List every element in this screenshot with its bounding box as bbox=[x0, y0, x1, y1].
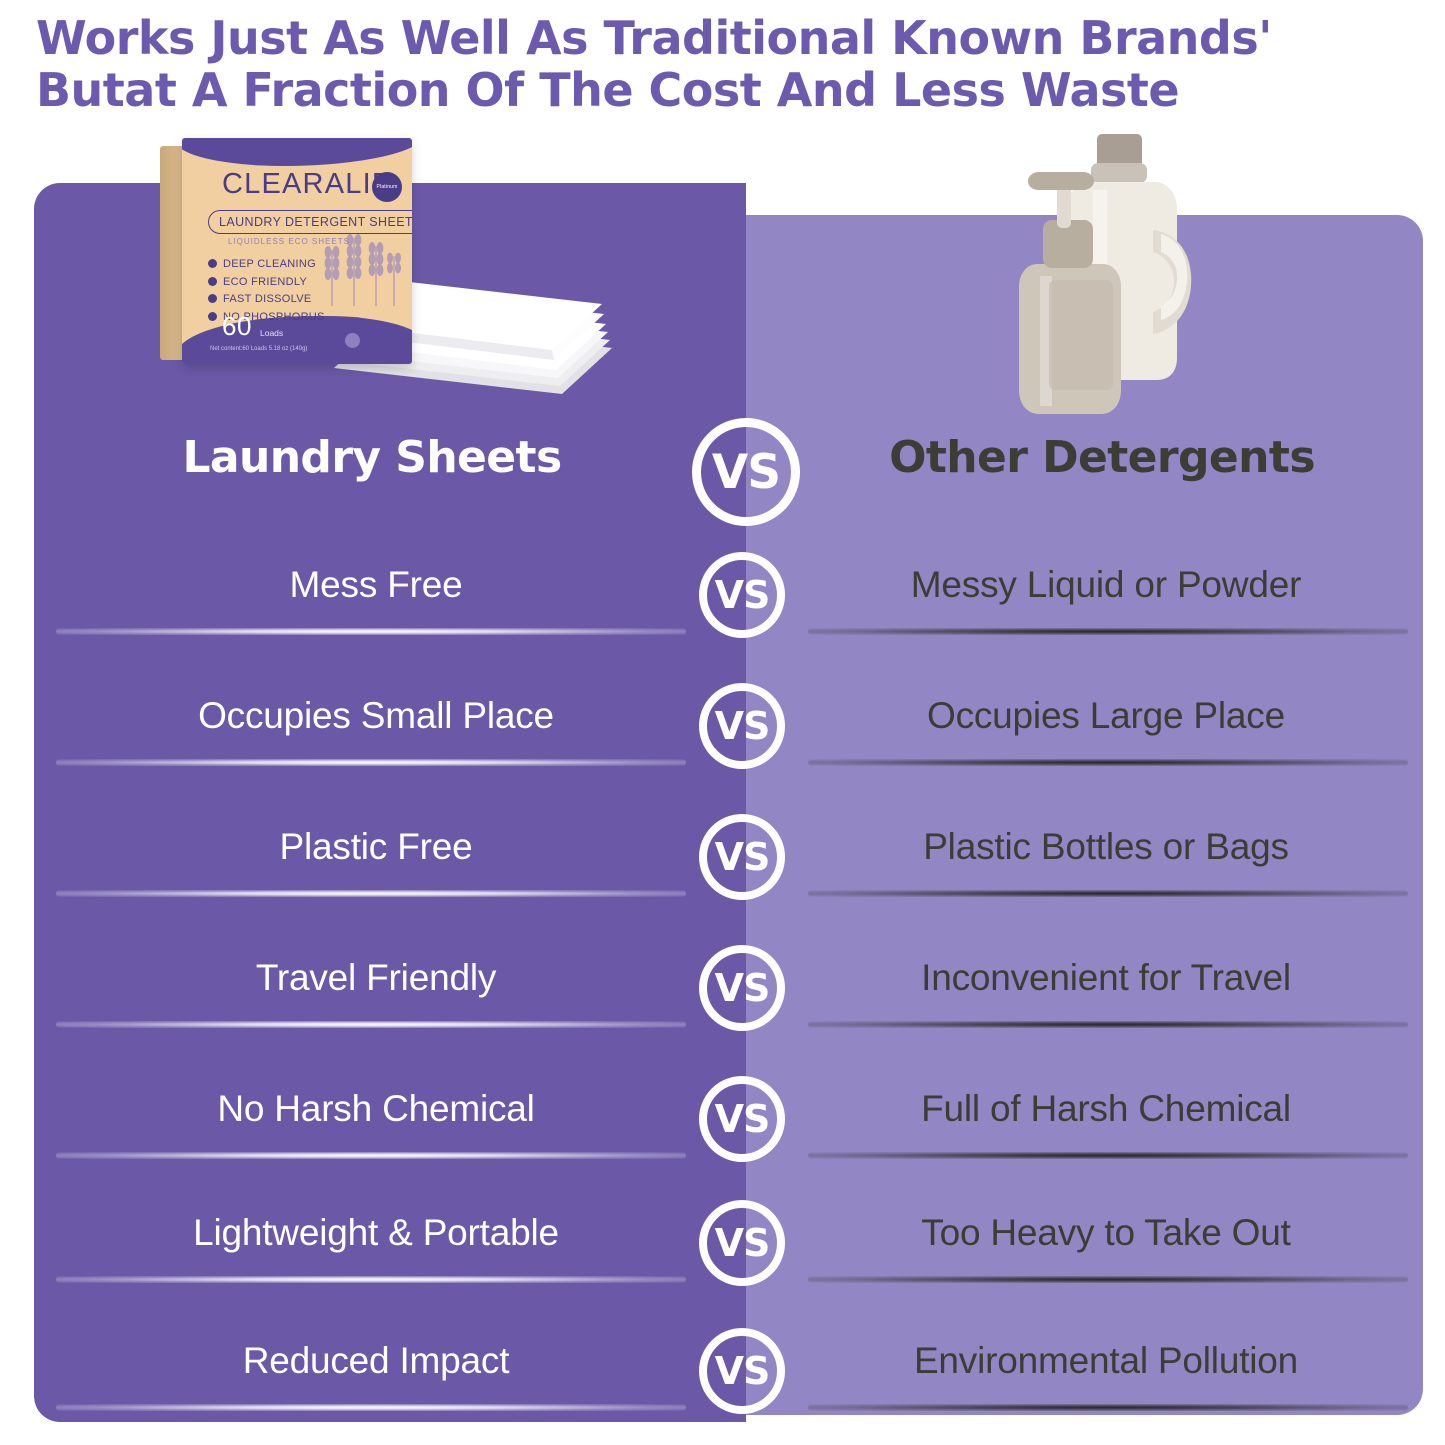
row-right-label: Environmental Pollution bbox=[800, 1318, 1412, 1404]
brand-name: CLEARALIF bbox=[222, 168, 391, 201]
row-right-divider bbox=[808, 1021, 1408, 1028]
row-right-label: Plastic Bottles or Bags bbox=[800, 804, 1412, 890]
vs-badge-row-7: VS bbox=[699, 1328, 785, 1414]
box-front-face: CLEARALIF Platinum LAUNDRY DETERGENT SHE… bbox=[182, 138, 412, 364]
box-wave-top bbox=[182, 138, 412, 166]
detergent-bottles-image bbox=[985, 130, 1220, 420]
headline-line-2: Butat A Fraction Of The Cost And Less Wa… bbox=[36, 64, 1416, 116]
row-left-label: Occupies Small Place bbox=[56, 673, 696, 759]
row-right-label: Messy Liquid or Powder bbox=[800, 542, 1412, 628]
eco-mini-icon bbox=[345, 333, 360, 348]
vs-badge-header: VS bbox=[692, 418, 800, 526]
vs-badge-row-3: VS bbox=[699, 814, 785, 900]
row-left-divider bbox=[56, 1021, 686, 1028]
row-right-label: Inconvenient for Travel bbox=[800, 935, 1412, 1021]
vs-badge-row-6: VS bbox=[699, 1200, 785, 1286]
row-left-divider bbox=[56, 759, 686, 766]
row-left-label: No Harsh Chemical bbox=[56, 1066, 696, 1152]
headline-line-1: Works Just As Well As Traditional Known … bbox=[36, 11, 1272, 65]
product-tagline: LIQUIDLESS ECO SHEETS bbox=[228, 237, 350, 246]
row-left-divider bbox=[56, 628, 686, 635]
row-left-divider bbox=[56, 1404, 686, 1411]
row-left-divider bbox=[56, 1152, 686, 1159]
row-left-divider bbox=[56, 890, 686, 897]
box-feature-item: DEEP CLEANING bbox=[208, 256, 325, 274]
product-type-label: LAUNDRY DETERGENT SHEETS bbox=[208, 210, 412, 234]
row-right-divider bbox=[808, 890, 1408, 897]
row-right-divider bbox=[808, 759, 1408, 766]
product-box-image: CLEARALIF Platinum LAUNDRY DETERGENT SHE… bbox=[160, 138, 412, 370]
platinum-badge: Platinum bbox=[372, 172, 402, 202]
row-left-label: Mess Free bbox=[56, 542, 696, 628]
left-column-header: Laundry Sheets bbox=[34, 432, 710, 483]
row-left-label: Travel Friendly bbox=[56, 935, 696, 1021]
vs-badge-row-5: VS bbox=[699, 1076, 785, 1162]
infographic-canvas: Works Just As Well As Traditional Known … bbox=[0, 0, 1445, 1445]
row-right-divider bbox=[808, 1152, 1408, 1159]
row-right-divider bbox=[808, 628, 1408, 635]
loads-count: 60 bbox=[222, 311, 252, 342]
row-right-divider bbox=[808, 1404, 1408, 1411]
vs-badge-row-4: VS bbox=[699, 945, 785, 1031]
row-left-label: Plastic Free bbox=[56, 804, 696, 890]
page-title: Works Just As Well As Traditional Known … bbox=[36, 12, 1416, 116]
right-column-header: Other Detergents bbox=[792, 432, 1412, 483]
row-left-label: Lightweight & Portable bbox=[56, 1190, 696, 1276]
box-feature-item: FAST DISSOLVE bbox=[208, 291, 325, 309]
loads-label: Loads bbox=[260, 328, 283, 338]
row-right-label: Too Heavy to Take Out bbox=[800, 1190, 1412, 1276]
row-right-divider bbox=[808, 1276, 1408, 1283]
box-feature-item: ECO FRIENDLY bbox=[208, 274, 325, 292]
vs-badge-row-1: VS bbox=[699, 552, 785, 638]
row-right-label: Full of Harsh Chemical bbox=[800, 1066, 1412, 1152]
row-left-divider bbox=[56, 1276, 686, 1283]
row-right-label: Occupies Large Place bbox=[800, 673, 1412, 759]
row-left-label: Reduced Impact bbox=[56, 1318, 696, 1404]
net-content-text: Net content:60 Loads 5.18 oz (140g) bbox=[210, 346, 307, 352]
vs-badge-row-2: VS bbox=[699, 683, 785, 769]
